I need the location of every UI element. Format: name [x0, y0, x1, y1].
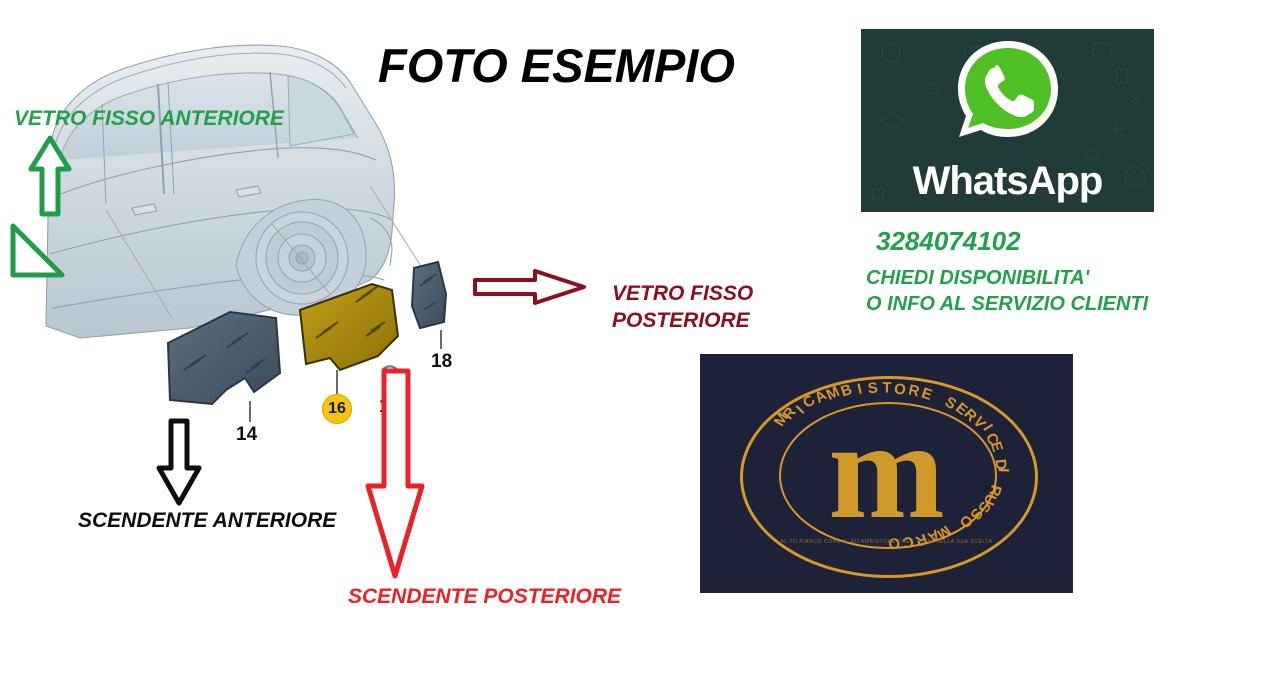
label-scendente-posteriore: SCENDENTE POSTERIORE [348, 585, 621, 609]
leader-tick-16 [336, 370, 338, 396]
poster-canvas: FOTO ESEMPIO [0, 0, 1264, 678]
logo-tagline: AL TO FIANCO COME IL RICAMBISTORE CHE L'… [700, 539, 1073, 545]
leader-tick-18 [440, 330, 442, 349]
right-arrow-dark-red-icon [472, 268, 587, 306]
whatsapp-logo-icon [954, 37, 1062, 145]
contact-line-2: O INFO AL SERVIZIO CLIENTI [866, 291, 1148, 317]
phone-number[interactable]: 3284074102 [876, 226, 1021, 257]
label-line-2: POSTERIORE [612, 307, 753, 334]
contact-line-1: CHIEDI DISPONIBILITA' [866, 265, 1148, 291]
leader-tick-14 [249, 401, 251, 422]
label-line-1: VETRO FISSO [612, 280, 753, 307]
logo-arc-char: S [867, 379, 879, 397]
part-number-18: 18 [431, 351, 452, 373]
down-arrow-black-icon [155, 418, 203, 506]
whatsapp-banner: WhatsApp [861, 29, 1154, 212]
label-scendente-anteriore: SCENDENTE ANTERIORE [78, 509, 336, 533]
label-vetro-fisso-posteriore: VETRO FISSO POSTERIORE [612, 280, 753, 334]
logo-arc-char: T [882, 380, 891, 397]
contact-instructions: CHIEDI DISPONIBILITA' O INFO AL SERVIZIO… [866, 265, 1148, 317]
up-arrow-green-icon [28, 135, 72, 217]
logo-monogram: m [700, 406, 1073, 536]
down-arrow-red-icon [364, 368, 426, 580]
label-vetro-fisso-anteriore: VETRO FISSO ANTERIORE [14, 107, 284, 131]
logo-arc-char: I [995, 468, 1012, 473]
whatsapp-wordmark: WhatsApp [861, 159, 1154, 204]
part-number-14: 14 [236, 424, 257, 446]
triangle-green-icon [8, 222, 66, 280]
logo-arc-char: O [893, 380, 907, 398]
car-exploded-diagram [40, 18, 510, 438]
part-badge-16: 16 [322, 394, 352, 424]
shop-logo-photo: m MRICAMBISTORE SERVICE DI RUSSO MARCO A… [700, 354, 1073, 593]
